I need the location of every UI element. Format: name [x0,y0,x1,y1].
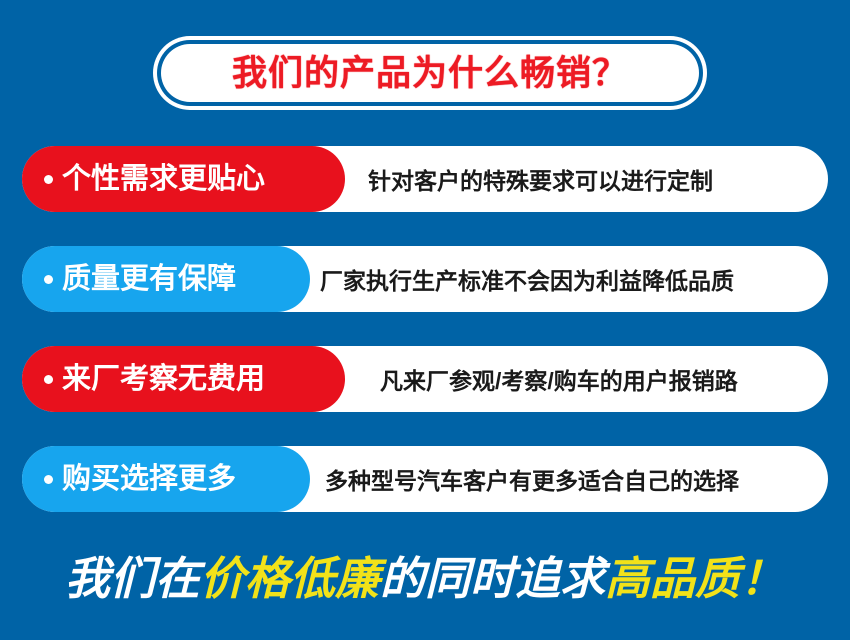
footer-part-4-highlight: 高品质！ [605,556,785,601]
footer-part-2-highlight: 价格低廉 [200,556,380,601]
feature-row: 多种型号汽车客户有更多适合自己的选择 购买选择更多 [22,446,828,512]
feature-description: 针对客户的特殊要求可以进行定制 [368,146,713,212]
feature-row: 厂家执行生产标准不会因为利益降低品质 质量更有保障 [22,246,828,312]
feature-tag-label: 来厂考察无费用 [62,365,265,394]
promo-poster: 我们的产品为什么畅销？ 针对客户的特殊要求可以进行定制 个性需求更贴心 厂家执行… [0,0,850,640]
bullet-dot-icon [44,175,53,184]
page-title: 我们的产品为什么畅销？ [232,56,628,91]
bullet-dot-icon [44,275,53,284]
title-pill-ring: 我们的产品为什么畅销？ [157,40,703,106]
feature-tag-label: 质量更有保障 [62,265,236,294]
footer-part-3: 的同时追求 [380,556,605,601]
feature-description: 厂家执行生产标准不会因为利益降低品质 [320,246,734,312]
feature-tag-label: 购买选择更多 [62,465,236,494]
feature-tag: 个性需求更贴心 [22,146,345,212]
feature-description: 凡来厂参观/考察/购车的用户报销路 [380,346,738,412]
feature-row: 凡来厂参观/考察/购车的用户报销路 来厂考察无费用 [22,346,828,412]
footer-part-1: 我们在 [65,556,200,601]
footer-slogan: 我们在价格低廉的同时追求高品质！ [0,544,850,612]
feature-row: 针对客户的特殊要求可以进行定制 个性需求更贴心 [22,146,828,212]
feature-description: 多种型号汽车客户有更多适合自己的选择 [325,446,739,512]
feature-tag-label: 个性需求更贴心 [62,165,265,194]
title-pill: 我们的产品为什么畅销？ [153,36,707,110]
bullet-dot-icon [44,475,53,484]
title-pill-inner: 我们的产品为什么畅销？ [161,44,699,102]
feature-tag: 购买选择更多 [22,446,310,512]
feature-tag: 质量更有保障 [22,246,310,312]
feature-tag: 来厂考察无费用 [22,346,345,412]
bullet-dot-icon [44,375,53,384]
